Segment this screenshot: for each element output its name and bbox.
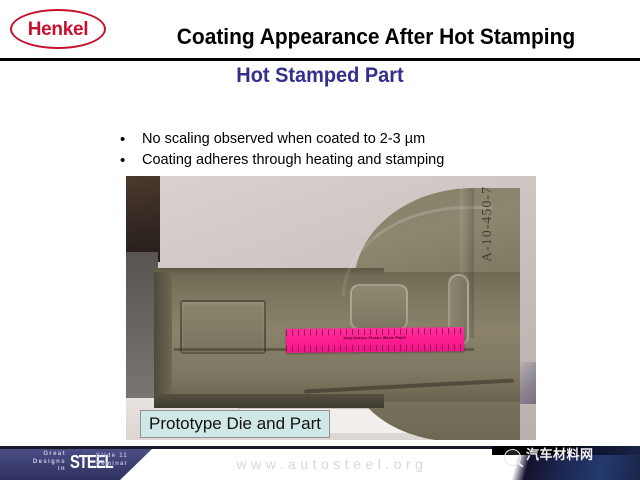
presentation-slide: Henkel Coating Appearance After Hot Stam… bbox=[0, 0, 640, 480]
list-item: • Coating adheres through heating and st… bbox=[120, 151, 560, 170]
footer-url[interactable]: www.autosteel.org bbox=[172, 456, 492, 472]
part-embossed-rectangle bbox=[180, 300, 266, 354]
badge-tagline-line3: in bbox=[6, 466, 66, 474]
stamped-part: Help Reduce Plastic Waste Paper A-10-450… bbox=[154, 188, 520, 430]
list-item: • No scaling observed when coated to 2-3… bbox=[120, 130, 560, 149]
pink-ruler: Help Reduce Plastic Waste Paper bbox=[286, 327, 464, 353]
header-divider bbox=[0, 58, 640, 61]
part-handwritten-marking: A-10-450-7 bbox=[480, 186, 496, 262]
badge-tagline: Great Designs in bbox=[6, 451, 66, 474]
slide-header: Henkel Coating Appearance After Hot Stam… bbox=[0, 0, 640, 58]
ruler-printed-text: Help Reduce Plastic Waste Paper bbox=[286, 335, 464, 341]
badge-tagline-line1: Great bbox=[6, 451, 66, 459]
part-bottom-edge bbox=[154, 394, 384, 408]
page-title: Coating Appearance After Hot Stamping bbox=[134, 26, 618, 49]
photo-caption: Prototype Die and Part bbox=[140, 410, 330, 438]
site-watermark: 汽车材料网 bbox=[492, 446, 640, 480]
bullet-list: • No scaling observed when coated to 2-3… bbox=[120, 130, 560, 172]
photo-background-object bbox=[520, 362, 536, 404]
henkel-logo: Henkel bbox=[10, 9, 106, 49]
watermark-text: 汽车材料网 bbox=[526, 448, 594, 463]
badge-tagline-line2: Designs bbox=[6, 459, 66, 467]
bullet-marker-icon: • bbox=[120, 130, 142, 149]
bullet-text: Coating adheres through heating and stam… bbox=[142, 151, 444, 170]
slide-number-label: Slide 11 bbox=[96, 452, 128, 460]
ruler-ticks-bottom bbox=[286, 344, 464, 352]
bullet-text: No scaling observed when coated to 2-3 µ… bbox=[142, 130, 425, 149]
badge-slide-info: Slide 11 Seminar bbox=[96, 452, 128, 468]
seminar-label: Seminar bbox=[96, 460, 128, 468]
bullet-marker-icon: • bbox=[120, 151, 142, 170]
slide-footer: Great Designs in STEEL Slide 11 Seminar … bbox=[0, 446, 640, 480]
hot-stamped-part-photo: Help Reduce Plastic Waste Paper A-10-450… bbox=[126, 176, 536, 440]
henkel-logo-text: Henkel bbox=[28, 20, 89, 39]
part-left-flange bbox=[154, 272, 172, 404]
part-embossed-square bbox=[350, 284, 408, 330]
page-subtitle: Hot Stamped Part bbox=[16, 64, 624, 87]
